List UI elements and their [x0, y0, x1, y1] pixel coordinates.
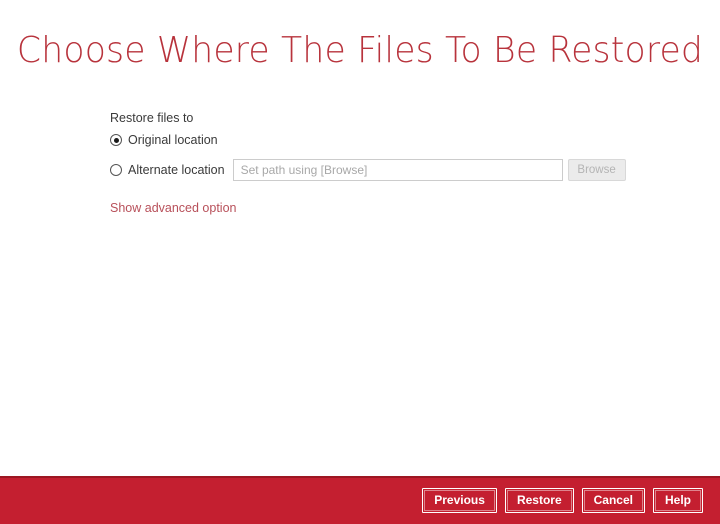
footer-button-group: Previous Restore Cancel Help [422, 488, 703, 513]
alternate-path-input[interactable] [233, 159, 563, 181]
footer-bar: Previous Restore Cancel Help [0, 476, 720, 524]
restore-files-to-label: Restore files to [110, 110, 630, 126]
restore-button[interactable]: Restore [505, 488, 574, 513]
radio-row-alternate-location[interactable]: Alternate location Browse [110, 157, 630, 183]
show-advanced-option-link[interactable]: Show advanced option [110, 200, 236, 216]
restore-location-form: Restore files to Original location Alter… [110, 110, 630, 217]
radio-label-original-location: Original location [128, 132, 218, 148]
page-title: Choose Where The Files To Be Restored [14, 28, 705, 74]
radio-original-location[interactable] [110, 134, 122, 146]
radio-alternate-location[interactable] [110, 164, 122, 176]
help-button[interactable]: Help [653, 488, 703, 513]
previous-button[interactable]: Previous [422, 488, 497, 513]
browse-button[interactable]: Browse [568, 159, 626, 181]
radio-label-alternate-location: Alternate location [128, 162, 225, 178]
radio-row-original-location[interactable]: Original location [110, 129, 630, 151]
cancel-button[interactable]: Cancel [582, 488, 645, 513]
